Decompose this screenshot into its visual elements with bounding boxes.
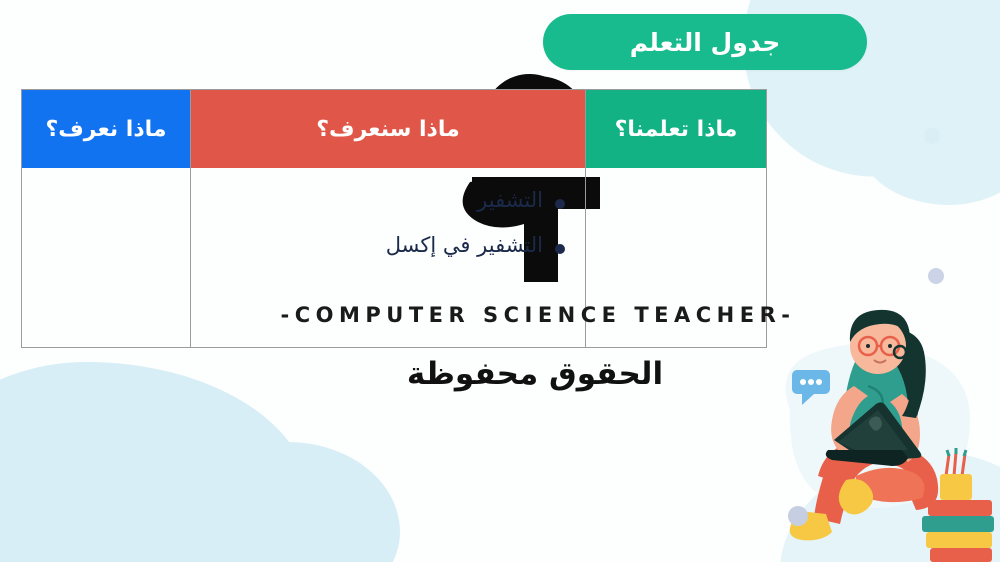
column-body-know[interactable] [22,168,190,347]
decor-blob-bottom-left [0,362,310,562]
books-stack-icon [922,500,994,562]
decor-dot-mid-right [928,268,944,284]
column-header-know: ماذا نعرف؟ [22,90,190,168]
list-willknow: التشفير التشفير في إكسل [201,190,569,256]
watermark-arabic: الحقوق محفوظة [300,356,770,392]
table-column-know: ماذا نعرف؟ [22,90,190,347]
column-header-willknow: ماذا سنعرف؟ [191,90,585,168]
decor-dot-top-right [924,128,940,144]
list-item: التشفير في إكسل [201,235,569,256]
watermark-english: -COMPUTER SCIENCE TEACHER- [258,303,818,327]
page-title: جدول التعلم [630,28,780,57]
illustration-woman-with-laptop [750,290,1000,562]
slide-canvas: جدول التعلم ماذا تعلمنا؟ ماذا سنعرف؟ الت… [0,0,1000,562]
decor-blob-bottom-left-2 [150,442,400,562]
column-header-learned: ماذا تعلمنا؟ [586,90,766,168]
slide-title-banner: جدول التعلم [543,14,867,70]
list-item: التشفير [201,190,569,211]
